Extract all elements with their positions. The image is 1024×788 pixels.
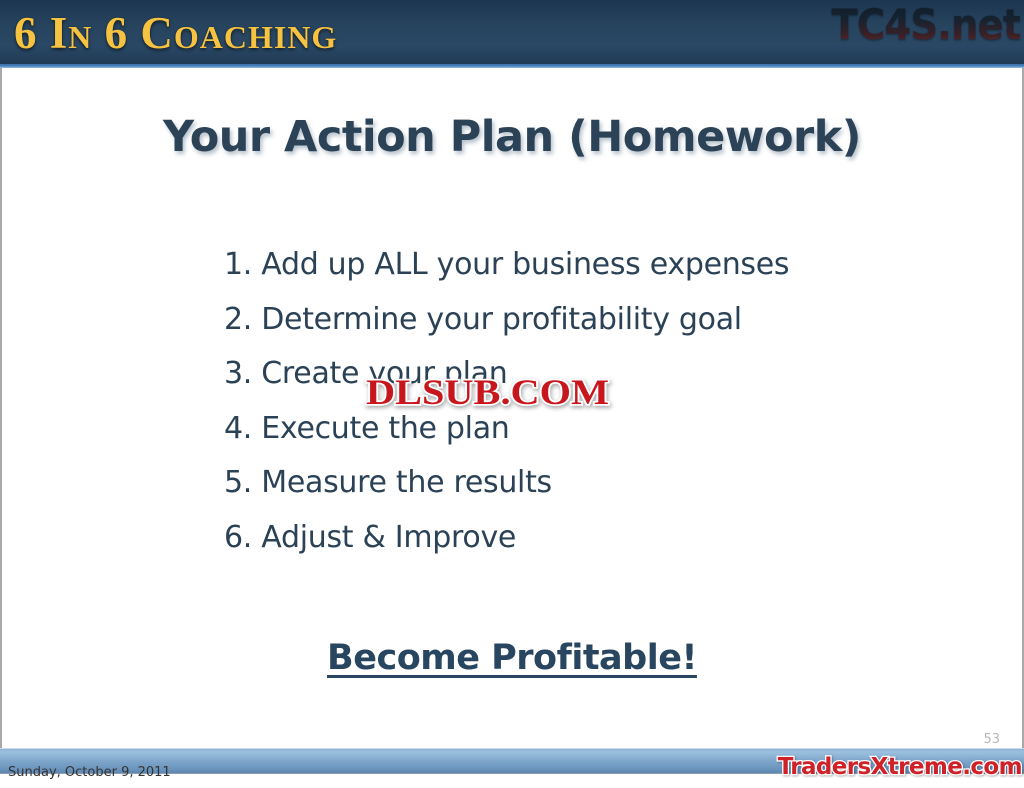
brand-title: 6 In 6 Coaching: [14, 5, 337, 61]
presentation-slide: 6 In 6 Coaching TC4S.net Your Action Pla…: [0, 0, 1024, 788]
page-number: 53: [983, 732, 1000, 747]
tc4s-site-logo: TC4S.net: [831, 0, 1020, 52]
list-item: 2. Determine your profitability goal: [224, 293, 864, 348]
list-item: 6. Adjust & Improve: [224, 511, 864, 566]
tradersxtreme-site-logo: TradersXtreme.com: [778, 754, 1022, 780]
slide-title: Your Action Plan (Homework): [0, 112, 1024, 162]
list-item: 5. Measure the results: [224, 456, 864, 511]
header-banner: 6 In 6 Coaching TC4S.net: [0, 0, 1024, 64]
dlsub-watermark: DLSUB.COM: [366, 371, 609, 413]
footer-date: Sunday, October 9, 2011: [8, 765, 171, 780]
callout-text: Become Profitable!: [0, 638, 1024, 678]
list-item: 1. Add up ALL your business expenses: [224, 238, 864, 293]
